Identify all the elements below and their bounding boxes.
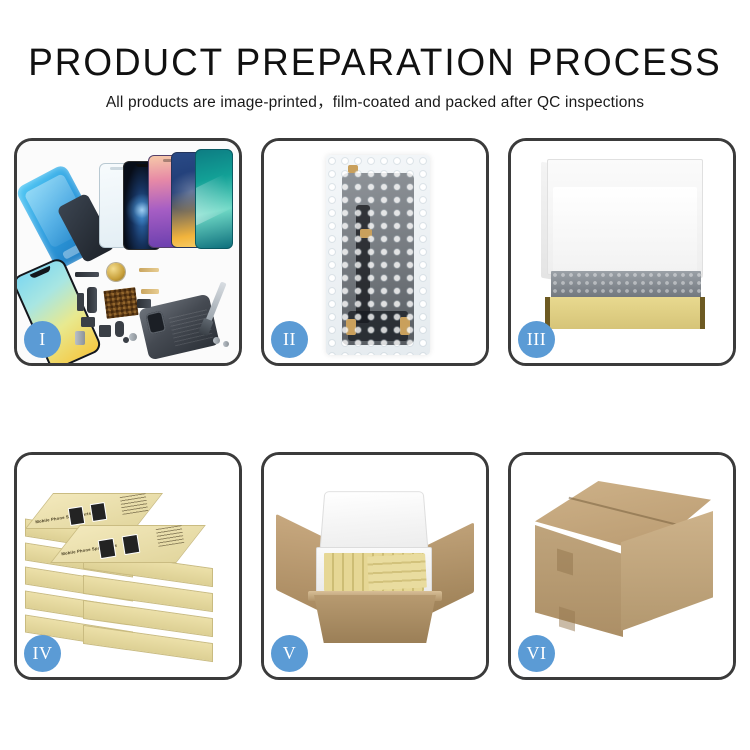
- step-badge-4: IV: [24, 635, 61, 672]
- ic-chip: [99, 325, 111, 337]
- process-step-grid: I II III: [14, 138, 736, 680]
- kraft-box-front: [545, 297, 705, 329]
- page-title: PRODUCT PREPARATION PROCESS: [11, 42, 739, 84]
- tape-tab-bottom-right: [400, 317, 410, 335]
- screw: [129, 333, 137, 341]
- connector-part: [137, 299, 151, 308]
- inner-kraft-boxes-stack: [367, 554, 427, 591]
- process-step-5: V: [261, 452, 489, 680]
- step-badge-1: I: [24, 321, 61, 358]
- flex-cable: [75, 272, 99, 277]
- gold-flex: [141, 289, 159, 294]
- chip-array: [103, 287, 138, 319]
- teal-gradient-phone: [195, 149, 233, 249]
- step-badge-6: VI: [518, 635, 555, 672]
- grey-bubble-foam: [551, 271, 701, 299]
- process-step-4: Mobile Phone Spare Parts Mobile Phone Sp…: [14, 452, 242, 680]
- box-window-2b: [122, 534, 141, 555]
- step-badge-5: V: [271, 635, 308, 672]
- metal-bracket: [75, 331, 85, 345]
- tape-tab-mid: [360, 229, 372, 238]
- process-step-2: II: [261, 138, 489, 366]
- screw-small: [123, 337, 129, 343]
- tape-tab-bottom-left: [346, 319, 356, 335]
- screw-right-2: [223, 341, 229, 347]
- camera-module: [81, 317, 95, 327]
- tape-tab-top: [348, 165, 358, 173]
- process-step-3: III: [508, 138, 736, 366]
- gold-component: [107, 263, 125, 281]
- carton-tape-upper: [557, 549, 573, 576]
- step-badge-3: III: [518, 321, 555, 358]
- process-step-6: VI: [508, 452, 736, 680]
- box-window-1a: [68, 506, 86, 526]
- carton-tape-lower: [559, 607, 575, 632]
- small-part: [77, 293, 84, 311]
- process-step-1: I: [14, 138, 242, 366]
- header: PRODUCT PREPARATION PROCESS All products…: [0, 0, 750, 113]
- carton-front-panel: [314, 595, 436, 643]
- speaker-part: [115, 321, 124, 337]
- foam-lid: [319, 491, 428, 551]
- flex-strip: [87, 287, 97, 313]
- product-preparation-infographic: PRODUCT PREPARATION PROCESS All products…: [0, 0, 750, 750]
- gold-connector: [139, 268, 159, 272]
- box-window-2a: [98, 538, 117, 559]
- box-window-1b: [90, 502, 108, 522]
- screw-right: [213, 337, 220, 344]
- white-foam-sheet: [553, 187, 697, 273]
- step-badge-2: II: [271, 321, 308, 358]
- page-subtitle: All products are image-printed，film-coat…: [0, 93, 750, 113]
